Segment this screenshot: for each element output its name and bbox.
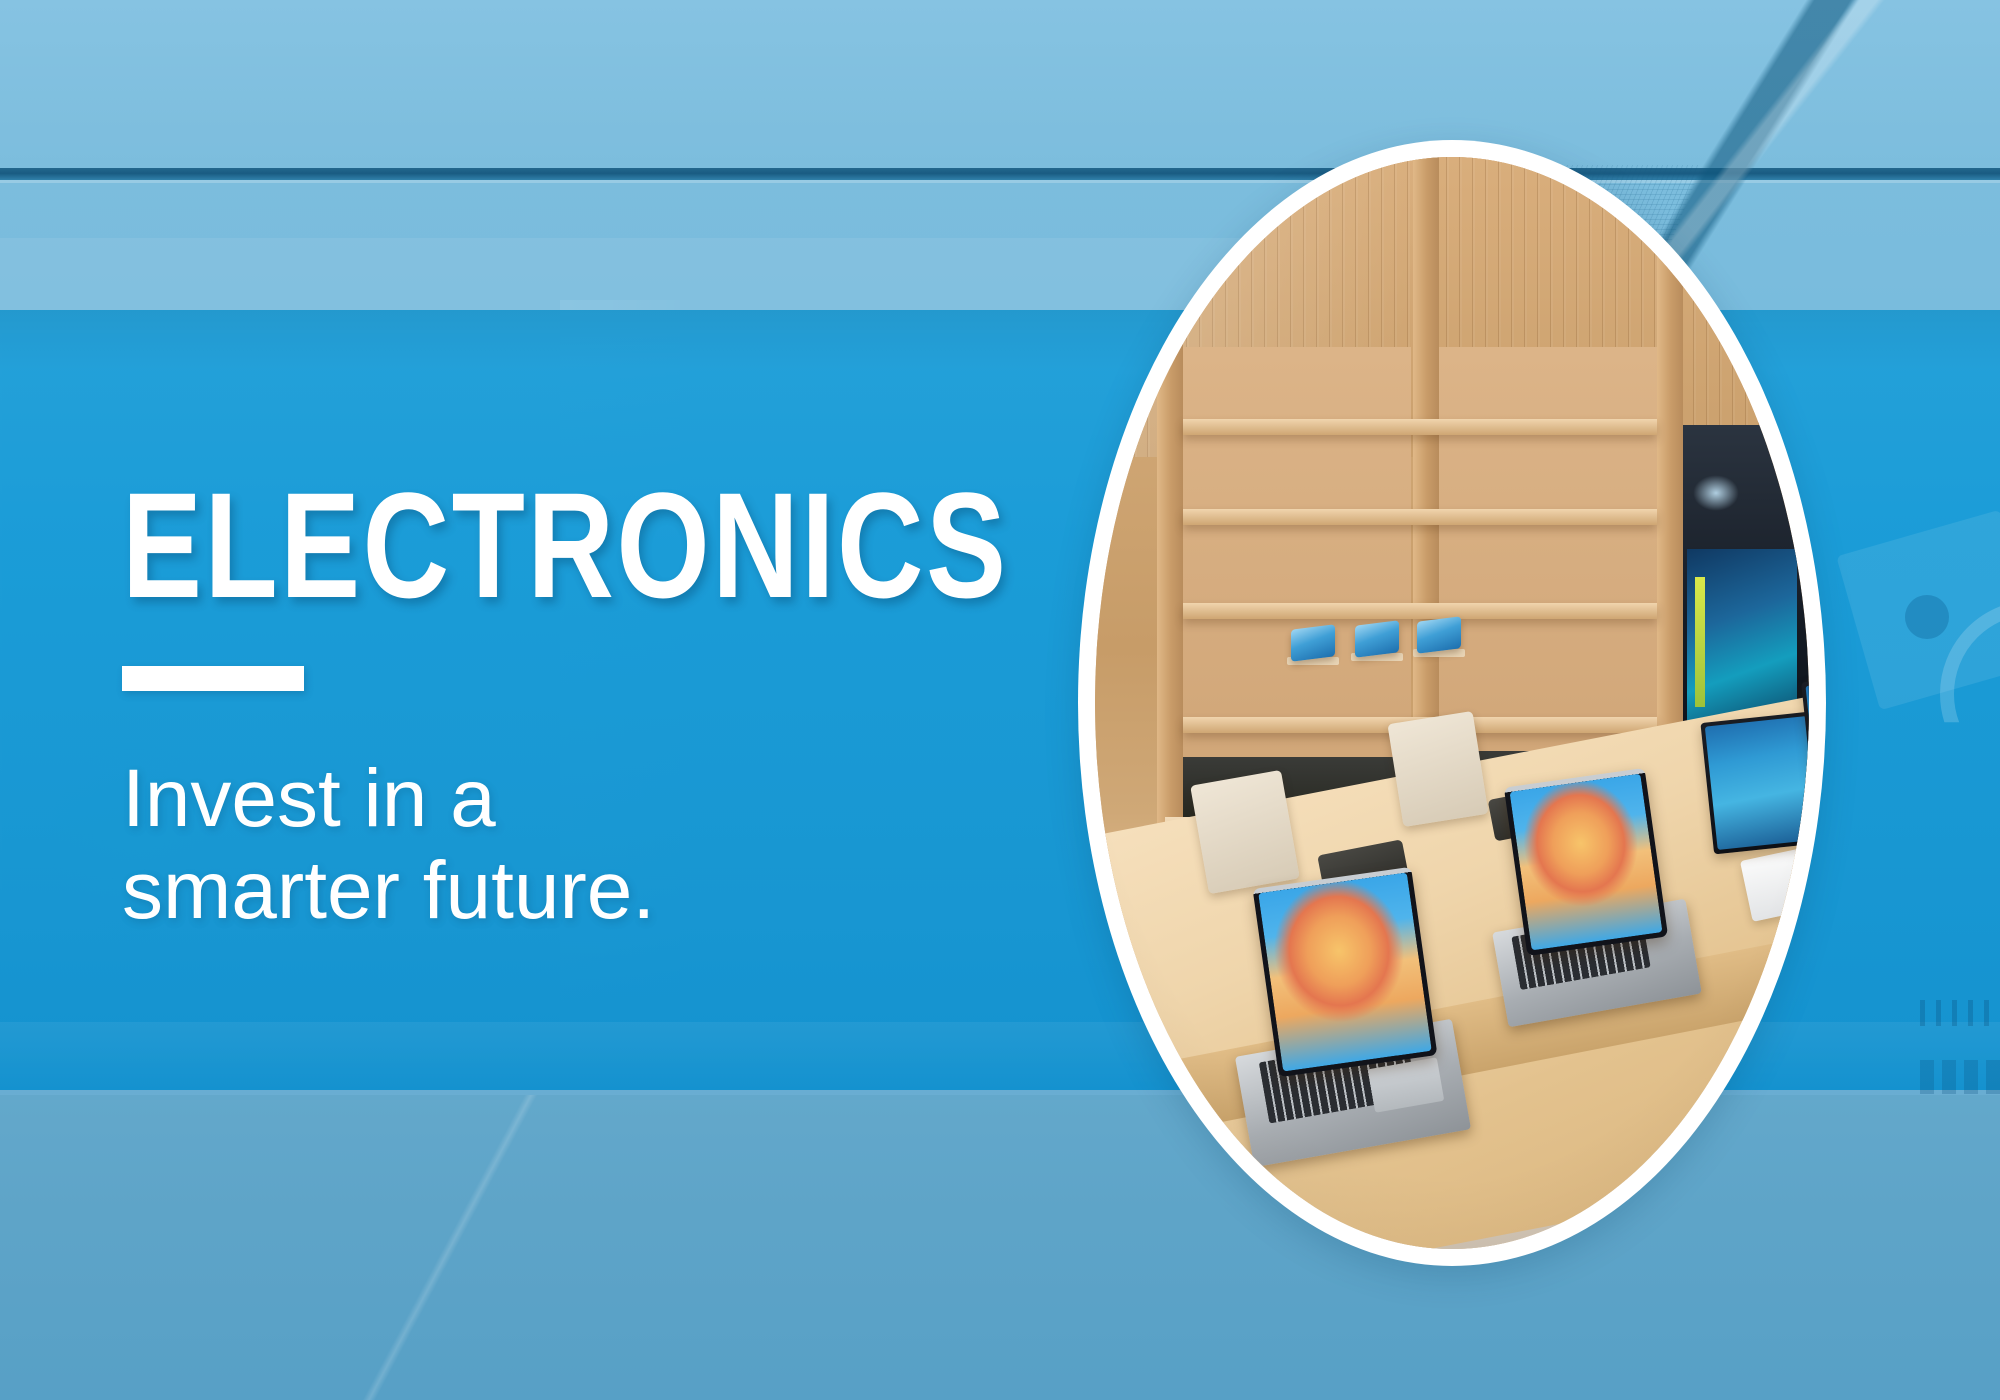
subtitle-line-1: Invest in a	[122, 753, 942, 845]
subtitle-line-2: smarter future.	[122, 845, 942, 937]
oval-photo-image	[1095, 157, 1809, 1249]
background-circle-shape	[1905, 595, 1949, 639]
banner-copy-block: ELECTRONICS Invest in a smarter future.	[122, 470, 942, 937]
page-title: ELECTRONICS	[122, 470, 778, 620]
store-interior-scene	[1095, 157, 1809, 1249]
oval-photo-frame	[1078, 140, 1826, 1266]
background-bar-shapes	[1920, 1000, 2000, 1026]
electronics-promo-banner: ELECTRONICS Invest in a smarter future.	[0, 0, 2000, 1400]
background-logo-shape	[1920, 1060, 2000, 1094]
photo-vignette	[1095, 157, 1809, 1249]
banner-subtitle: Invest in a smarter future.	[122, 753, 942, 937]
title-divider-rule	[122, 666, 304, 691]
